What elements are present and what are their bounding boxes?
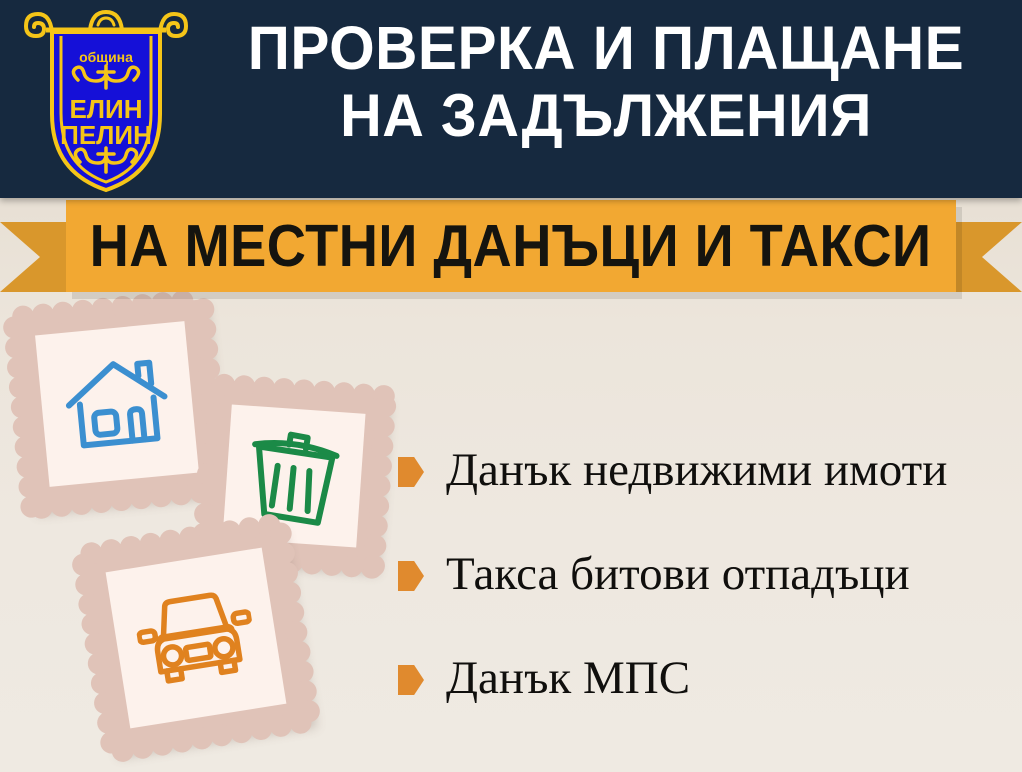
header-banner: община ЕЛИН ПЕЛИН <box>0 0 1022 198</box>
ribbon-band: НА МЕСТНИ ДАНЪЦИ И ТАКСИ <box>66 200 956 292</box>
stamp-card-house <box>13 299 221 508</box>
stamp-cards-group <box>0 290 420 770</box>
ribbon-text: НА МЕСТНИ ДАНЪЦИ И ТАКСИ <box>90 216 932 276</box>
crest-text-line2: ПЕЛИН <box>60 120 152 150</box>
trash-can-icon <box>244 422 345 530</box>
header-title-line-2: НА ЗАДЪЛЖЕНИЯ <box>207 82 1006 150</box>
stamp-card-car-inner <box>106 548 287 729</box>
house-icon <box>58 349 175 459</box>
subtitle-ribbon: НА МЕСТНИ ДАНЪЦИ И ТАКСИ <box>0 200 1022 300</box>
crest-text-obshtina: община <box>79 49 133 65</box>
bullet-arrow-icon <box>398 561 424 591</box>
list-item-label: Такса битови отпадъци <box>446 548 910 600</box>
list-item-label: Данък недвижими имоти <box>446 444 947 496</box>
stamp-card-car <box>82 524 311 753</box>
list-item-label: Данък МПС <box>446 652 690 704</box>
header-title-block: ПРОВЕРКА И ПЛАЩАНЕ НА ЗАДЪЛЖЕНИЯ <box>190 14 1022 150</box>
card-scallop <box>362 554 385 577</box>
bullet-arrow-icon <box>398 457 424 487</box>
list-item[interactable]: Данък МПС <box>398 626 1018 730</box>
poster-canvas: община ЕЛИН ПЕЛИН <box>0 0 1022 772</box>
list-item[interactable]: Такса битови отпадъци <box>398 522 1018 626</box>
list-item[interactable]: Данък недвижими имоти <box>398 418 1018 522</box>
municipality-crest-logo: община ЕЛИН ПЕЛИН <box>22 2 190 196</box>
bullet-arrow-icon <box>398 665 424 695</box>
services-list: Данък недвижими имоти Такса битови отпад… <box>398 418 1018 730</box>
car-front-icon <box>131 582 261 695</box>
header-title-line-1: ПРОВЕРКА И ПЛАЩАНЕ <box>207 14 1006 82</box>
crest-icon: община ЕЛИН ПЕЛИН <box>22 2 190 196</box>
stamp-card-house-inner <box>35 321 199 487</box>
